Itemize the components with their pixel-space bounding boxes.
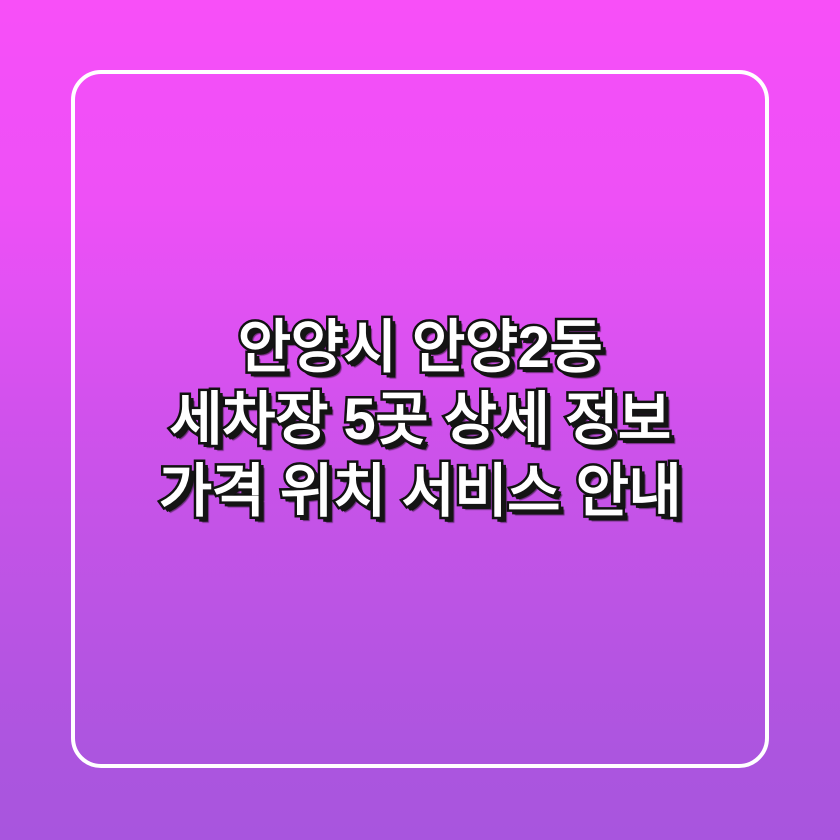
headline-line-1: 안양시 안양2동 [84, 312, 756, 384]
headline-block: 안양시 안양2동 세차장 5곳 상세 정보 가격 위치 서비스 안내 [0, 0, 840, 840]
headline-line-3: 가격 위치 서비스 안내 [84, 456, 756, 528]
headline-line-2: 세차장 5곳 상세 정보 [84, 384, 756, 456]
poster-canvas: 안양시 안양2동 세차장 5곳 상세 정보 가격 위치 서비스 안내 [0, 0, 840, 840]
